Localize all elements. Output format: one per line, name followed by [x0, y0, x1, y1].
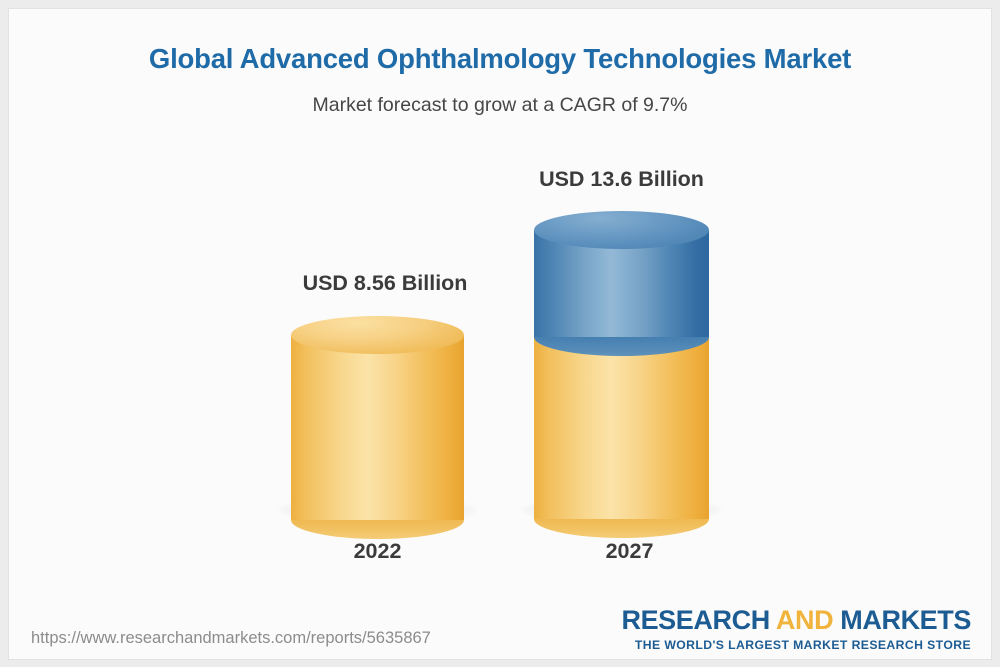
bar-side-wall-2022	[291, 335, 464, 520]
bar-value-label-2027: USD 13.6 Billion	[354, 167, 889, 192]
bar-category-label-2027: 2027	[542, 539, 717, 564]
research-and-markets-logo[interactable]: RESEARCH AND MARKETS THE WORLD'S LARGEST…	[621, 607, 971, 652]
bar-gold-segment-2022	[291, 335, 464, 521]
bar-gold-segment-2027	[534, 337, 709, 521]
bar-blue-top-cap-2027	[534, 211, 709, 249]
bar-blue-segment-2027	[534, 230, 709, 356]
bar-value-label-2022: USD 8.56 Billion	[205, 271, 565, 296]
logo-word-markets: MARKETS	[840, 605, 971, 635]
infographic-page: Global Advanced Ophthalmology Technologi…	[0, 0, 1000, 667]
logo-tagline: THE WORLD'S LARGEST MARKET RESEARCH STOR…	[621, 638, 971, 652]
logo-wordmark: RESEARCH AND MARKETS	[621, 607, 971, 635]
bar-cylinder-2027	[534, 204, 709, 529]
logo-word-and: AND	[770, 605, 841, 635]
bar-gold-side-wall-2027	[534, 337, 709, 519]
bar-cylinder-2022	[291, 309, 464, 529]
logo-word-research: RESEARCH	[621, 605, 769, 635]
chart-card: Global Advanced Ophthalmology Technologi…	[8, 8, 992, 660]
bar-top-cap-2022	[291, 316, 464, 354]
bar-category-label-2022: 2022	[291, 539, 464, 564]
chart-plot-area: USD 8.56 Billion 2022 USD 13.6 Billion	[9, 9, 991, 659]
source-url[interactable]: https://www.researchandmarkets.com/repor…	[31, 629, 431, 648]
